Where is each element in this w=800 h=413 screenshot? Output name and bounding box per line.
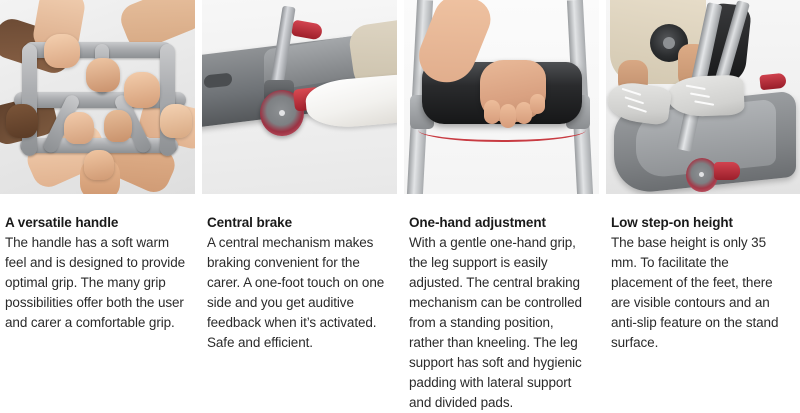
- hand-grip-1: [44, 34, 80, 68]
- handle-post-left: [22, 44, 37, 156]
- feature-column-versatile-handle: A versatile handle The handle has a soft…: [0, 0, 195, 413]
- photo-one-hand-adjustment: [404, 0, 599, 194]
- shoelace-6: [627, 105, 647, 113]
- caption-central-brake: Central brake A central mechanism makes …: [202, 215, 397, 353]
- hand-grip-6: [64, 112, 94, 144]
- feature-title: A versatile handle: [5, 215, 187, 230]
- shoelace-3: [694, 100, 714, 105]
- hand-grip-7: [104, 110, 132, 142]
- handle-post-right: [160, 44, 175, 156]
- brake-pedal-far-side: [759, 73, 786, 91]
- caption-one-hand-adjustment: One-hand adjustment With a gentle one-ha…: [404, 215, 599, 413]
- caption-low-step-on-height: Low step-on height The base height is on…: [606, 215, 800, 353]
- hand-grip-2: [86, 58, 120, 92]
- brake-pedal: [714, 162, 740, 180]
- hand-grip-8: [84, 150, 114, 180]
- feature-body: The base height is only 35 mm. To facili…: [611, 233, 793, 353]
- brake-pedal-far-side: [291, 20, 323, 41]
- photo-versatile-handle: [0, 0, 195, 194]
- hand-on-pad: [480, 60, 546, 122]
- feature-column-central-brake: Central brake A central mechanism makes …: [202, 0, 397, 413]
- hand-grip-3: [124, 72, 160, 108]
- finger-4: [530, 94, 545, 114]
- hand-grip-4: [6, 104, 38, 138]
- shoelace-2: [690, 92, 710, 97]
- feature-title: Central brake: [207, 215, 389, 230]
- feature-body: The handle has a soft warm feel and is d…: [5, 233, 187, 333]
- feature-body: With a gentle one-hand grip, the leg sup…: [409, 233, 591, 413]
- caption-versatile-handle: A versatile handle The handle has a soft…: [0, 215, 195, 333]
- feature-body: A central mechanism makes braking conven…: [207, 233, 389, 353]
- feature-title: One-hand adjustment: [409, 215, 591, 230]
- feature-column-low-step-on-height: Low step-on height The base height is on…: [606, 0, 800, 413]
- finger-1: [484, 100, 500, 124]
- shoelace-1: [686, 85, 706, 90]
- shoelace-5: [625, 96, 645, 104]
- photo-central-brake: [202, 0, 397, 194]
- feature-grid: A versatile handle The handle has a soft…: [0, 0, 800, 413]
- feature-column-one-hand-adjustment: One-hand adjustment With a gentle one-ha…: [404, 0, 599, 413]
- hand-grip-5: [160, 104, 192, 138]
- shoelace-4: [622, 88, 642, 96]
- shoe-right: [667, 75, 744, 118]
- finger-2: [500, 104, 516, 128]
- feature-title: Low step-on height: [611, 215, 793, 230]
- photo-low-step-on-height: [606, 0, 800, 194]
